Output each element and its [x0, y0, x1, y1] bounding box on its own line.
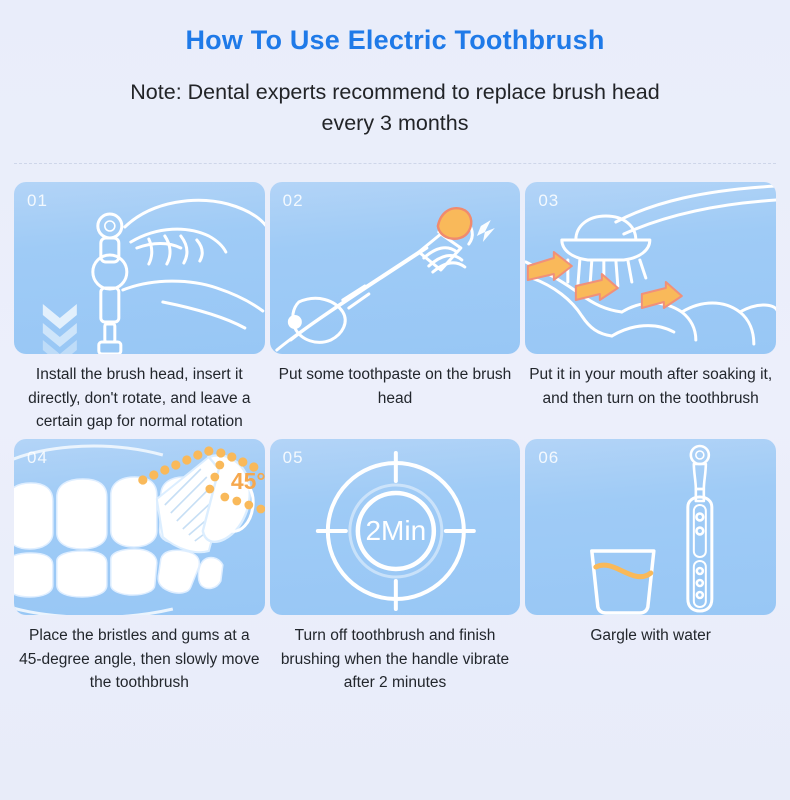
lower-teeth [14, 549, 223, 597]
header-divider [14, 163, 776, 164]
step-card-03: 03 [525, 182, 776, 439]
teeth-45-degree-angle-icon: 45° [14, 439, 265, 615]
step-caption-02: Put some toothpaste on the brush head [270, 363, 521, 439]
water-glass [592, 551, 654, 613]
step-number-badge: 04 [27, 448, 48, 468]
note-line-2: every 3 months [75, 108, 715, 139]
step-card-05: 05 2Min Turn off toothbrush and finish b… [270, 439, 521, 700]
step-card-02: 02 [270, 182, 521, 439]
step-number-badge: 06 [538, 448, 559, 468]
toothpaste-blob [437, 208, 470, 238]
header: How To Use Electric Toothbrush Note: Den… [0, 0, 790, 164]
timer-label: 2Min [365, 515, 426, 546]
step-caption-05: Turn off toothbrush and finish brushing … [270, 624, 521, 700]
step-number-badge: 03 [538, 191, 559, 211]
step-illustration-02: 02 [270, 182, 521, 354]
step-card-04: 04 [14, 439, 265, 700]
step-caption-01: Install the brush head, insert it direct… [14, 363, 265, 439]
note-line-1: Note: Dental experts recommend to replac… [75, 77, 715, 108]
step-caption-04: Place the bristles and gums at a 45-degr… [14, 624, 265, 700]
brush-head-on-teeth-arrows-icon [525, 182, 776, 354]
step-illustration-03: 03 [525, 182, 776, 354]
infographic-page: How To Use Electric Toothbrush Note: Den… [0, 0, 790, 800]
step-number-badge: 02 [283, 191, 304, 211]
glass-of-water-and-toothbrush-icon [525, 439, 776, 615]
step-caption-03: Put it in your mouth after soaking it, a… [525, 363, 776, 439]
two-minute-timer-icon: 2Min [270, 439, 521, 615]
electric-toothbrush [688, 446, 712, 611]
steps-grid: 01 [0, 182, 790, 700]
angle-label: 45° [231, 468, 265, 494]
page-title: How To Use Electric Toothbrush [0, 26, 790, 56]
sparkle-icon [476, 220, 494, 242]
hand-installing-brush-head-icon [14, 182, 265, 354]
step-card-06: 06 [525, 439, 776, 700]
step-illustration-06: 06 [525, 439, 776, 615]
step-card-01: 01 [14, 182, 265, 439]
step-number-badge: 01 [27, 191, 48, 211]
toothbrush-with-toothpaste-icon [270, 182, 521, 354]
step-caption-06: Gargle with water [588, 624, 713, 700]
step-illustration-01: 01 [14, 182, 265, 354]
step-illustration-04: 04 [14, 439, 265, 615]
step-illustration-05: 05 2Min [270, 439, 521, 615]
chevron-down-arrows [43, 304, 77, 354]
step-number-badge: 05 [283, 448, 304, 468]
note-text: Note: Dental experts recommend to replac… [75, 77, 715, 139]
